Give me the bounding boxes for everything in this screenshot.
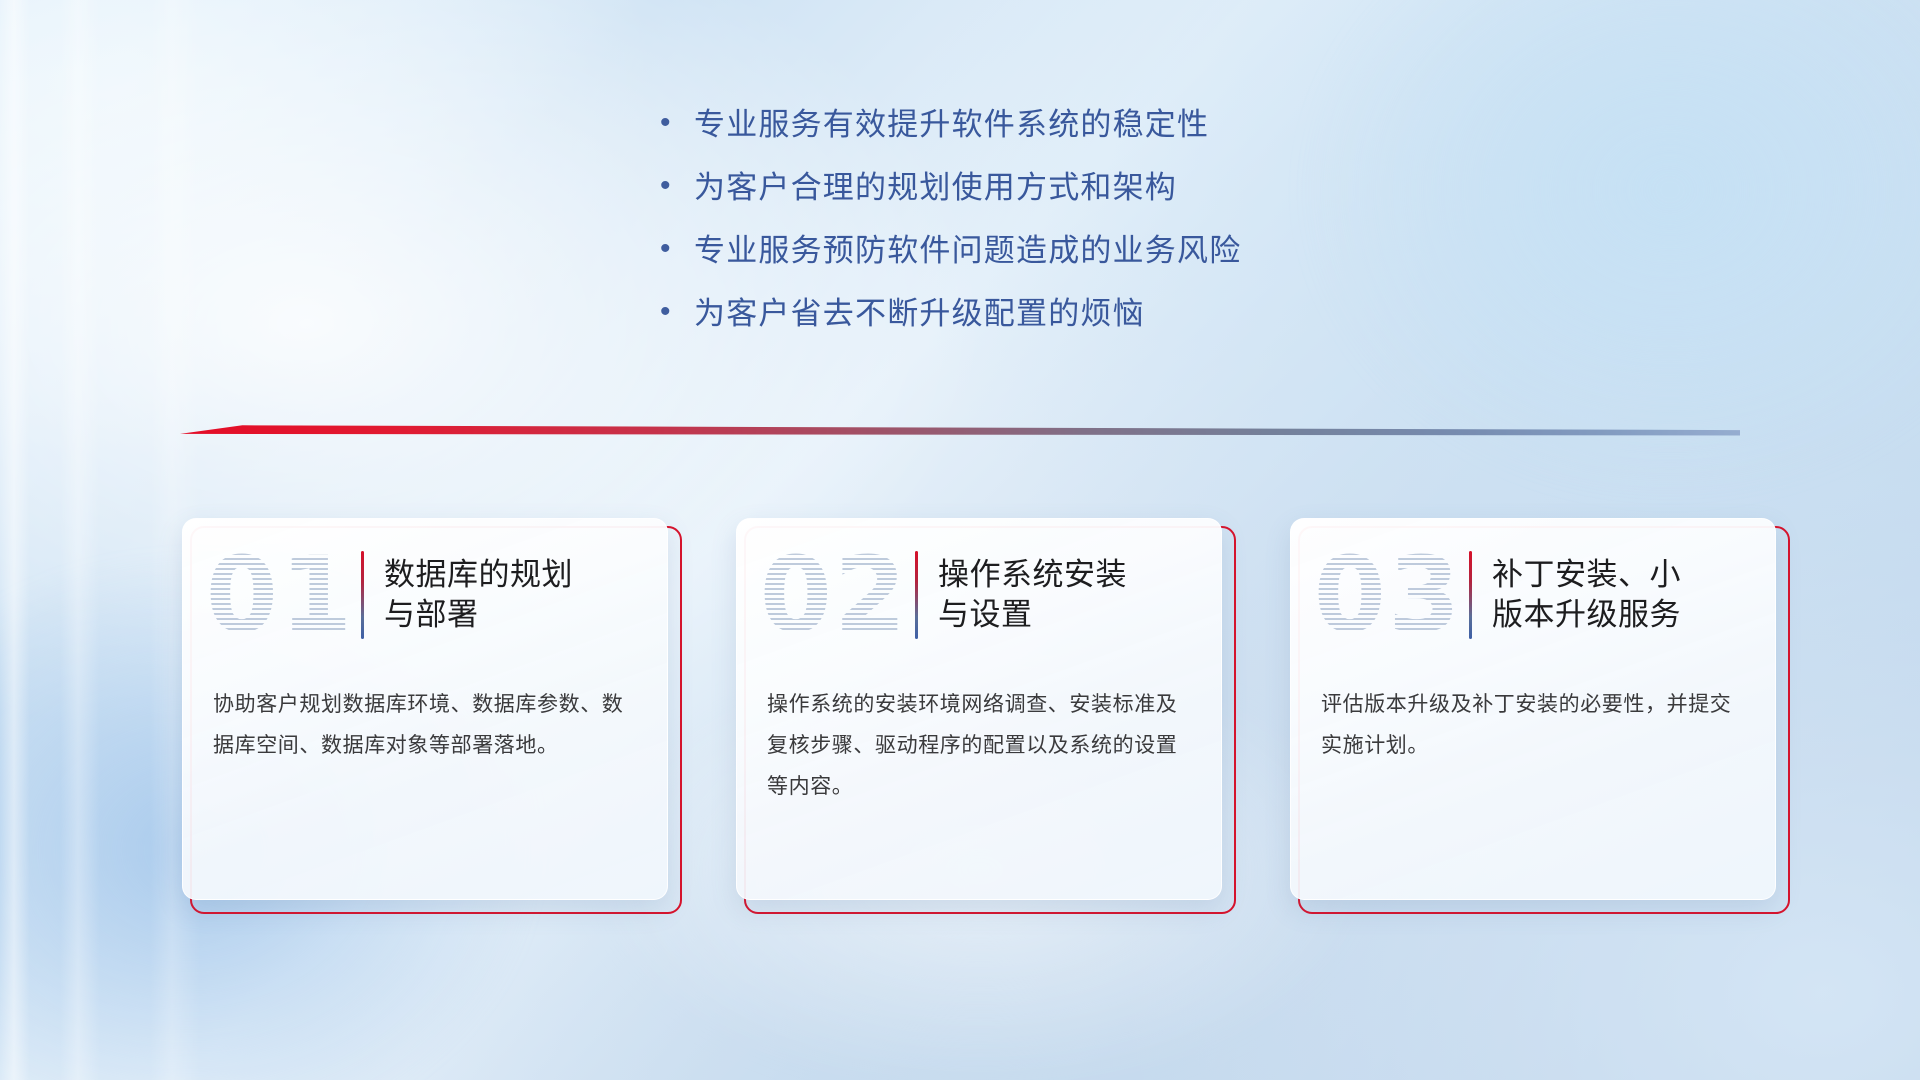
card-title: 数据库的规划 与部署 [384, 555, 573, 636]
card-number-label: 02 [760, 543, 909, 647]
card-number-ghost: 01 [205, 540, 355, 650]
feature-card-row: 01 数据库的规划 与部署 协助客户规划数据库环境、数据库参数、数据库空间、数据… [182, 518, 1782, 918]
card-surface: 01 数据库的规划 与部署 协助客户规划数据库环境、数据库参数、数据库空间、数据… [182, 518, 668, 900]
bullet-marker-icon: • [660, 297, 694, 327]
bullet-item-label: 为客户合理的规划使用方式和架构 [694, 168, 1177, 209]
feature-card[interactable]: 03 补丁安装、小 版本升级服务 评估版本升级及补丁安装的必要性，并提交实施计划… [1290, 518, 1782, 906]
card-title-rule [1469, 551, 1472, 639]
bullet-marker-icon: • [660, 108, 694, 138]
bullet-item-label: 专业服务有效提升软件系统的稳定性 [694, 105, 1209, 146]
section-divider [180, 424, 1740, 446]
bullet-item-label: 为客户省去不断升级配置的烦恼 [694, 294, 1145, 335]
card-number-ghost: 02 [759, 540, 909, 650]
slide-canvas: • 专业服务有效提升软件系统的稳定性 • 为客户合理的规划使用方式和架构 • 专… [0, 0, 1920, 1080]
bullet-item: • 为客户省去不断升级配置的烦恼 [660, 294, 1560, 335]
card-body-text: 协助客户规划数据库环境、数据库参数、数据库空间、数据库对象等部署落地。 [183, 671, 667, 767]
bullet-list: • 专业服务有效提升软件系统的稳定性 • 为客户合理的规划使用方式和架构 • 专… [660, 105, 1560, 357]
feature-card[interactable]: 01 数据库的规划 与部署 协助客户规划数据库环境、数据库参数、数据库空间、数据… [182, 518, 674, 906]
card-title: 操作系统安装 与设置 [938, 555, 1127, 636]
card-surface: 03 补丁安装、小 版本升级服务 评估版本升级及补丁安装的必要性，并提交实施计划… [1290, 518, 1776, 900]
feature-card[interactable]: 02 操作系统安装 与设置 操作系统的安装环境网络调查、安装标准及复核步骤、驱动… [736, 518, 1228, 906]
card-number-label: 01 [206, 543, 355, 647]
card-header: 03 补丁安装、小 版本升级服务 [1291, 519, 1775, 671]
card-header: 02 操作系统安装 与设置 [737, 519, 1221, 671]
card-title: 补丁安装、小 版本升级服务 [1492, 555, 1681, 636]
bullet-item: • 为客户合理的规划使用方式和架构 [660, 168, 1560, 209]
card-title-rule [915, 551, 918, 639]
card-body-text: 评估版本升级及补丁安装的必要性，并提交实施计划。 [1291, 671, 1775, 767]
bullet-marker-icon: • [660, 234, 694, 264]
bullet-item: • 专业服务预防软件问题造成的业务风险 [660, 231, 1560, 272]
card-title-rule [361, 551, 364, 639]
bullet-item: • 专业服务有效提升软件系统的稳定性 [660, 105, 1560, 146]
card-surface: 02 操作系统安装 与设置 操作系统的安装环境网络调查、安装标准及复核步骤、驱动… [736, 518, 1222, 900]
divider-wedge-shape [180, 424, 1740, 440]
bullet-marker-icon: • [660, 171, 694, 201]
card-number-label: 03 [1314, 543, 1463, 647]
bullet-item-label: 专业服务预防软件问题造成的业务风险 [694, 231, 1241, 272]
card-header: 01 数据库的规划 与部署 [183, 519, 667, 671]
card-body-text: 操作系统的安装环境网络调查、安装标准及复核步骤、驱动程序的配置以及系统的设置等内… [737, 671, 1221, 808]
card-number-ghost: 03 [1313, 540, 1463, 650]
